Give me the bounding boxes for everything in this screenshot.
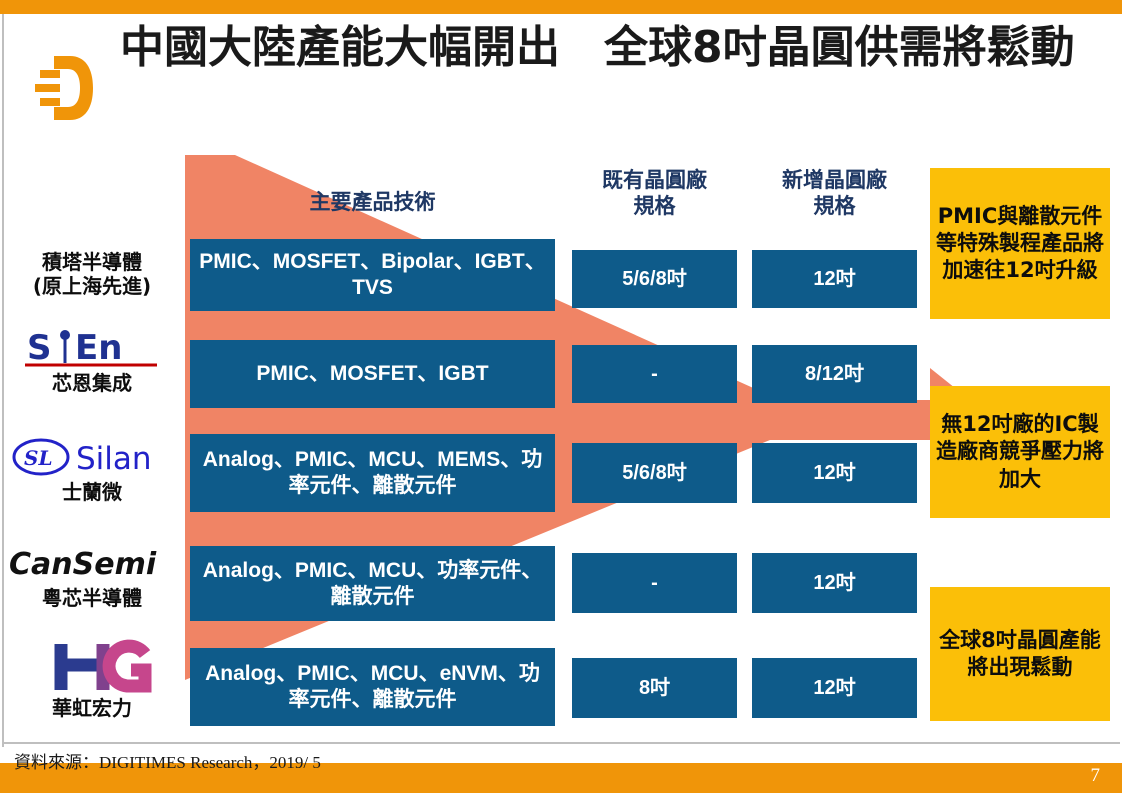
row-label-sien: S En 芯恩集成 bbox=[2, 325, 182, 395]
table-cell-tech: Analog、PMIC、MCU、MEMS、功率元件、離散元件 bbox=[190, 434, 555, 512]
table-cell-new-fab: 12吋 bbox=[752, 553, 917, 613]
svg-text:Silan: Silan bbox=[76, 441, 152, 477]
table-cell-new-fab: 12吋 bbox=[752, 658, 917, 718]
company-name-line1: 粵芯半導體 bbox=[2, 586, 182, 610]
company-name-line1: 華虹宏力 bbox=[2, 696, 182, 720]
footer-divider bbox=[2, 742, 1120, 744]
svg-text:CanSemi: CanSemi bbox=[9, 547, 157, 582]
table-cell-tech: PMIC、MOSFET、IGBT bbox=[190, 340, 555, 408]
column-header-existing-fab: 既有晶圓廠 規格 bbox=[572, 168, 737, 219]
source-note: 資料來源：DIGITIMES Research，2019/ 5 bbox=[14, 748, 321, 773]
table-cell-existing-fab: - bbox=[572, 553, 737, 613]
column-header-new-fab-line1: 新增晶圓廠 bbox=[752, 168, 917, 194]
table-cell-tech: PMIC、MOSFET、Bipolar、IGBT、TVS bbox=[190, 239, 555, 311]
row-label-cansemi: CanSemi 粵芯半導體 bbox=[2, 540, 182, 610]
company-name-line1: 士蘭微 bbox=[2, 480, 182, 504]
svg-text:S: S bbox=[27, 328, 52, 368]
table-cell-tech: Analog、PMIC、MCU、eNVM、功率元件、離散元件 bbox=[190, 648, 555, 726]
table-cell-existing-fab: 5/6/8吋 bbox=[572, 443, 737, 503]
column-header-new-fab-line2: 規格 bbox=[752, 194, 917, 220]
company-name-line2: (原上海先進) bbox=[2, 274, 182, 298]
table-cell-existing-fab: 5/6/8吋 bbox=[572, 250, 737, 308]
company-name-line1: 積塔半導體 bbox=[2, 250, 182, 274]
row-label-jita: 積塔半導體 (原上海先進) bbox=[2, 250, 182, 298]
page-title: 中國大陸產能大幅開出 全球8吋晶圓供需將鬆動 bbox=[120, 22, 1115, 74]
column-header-existing-fab-line2: 規格 bbox=[572, 194, 737, 220]
hg-logo-icon bbox=[2, 638, 182, 696]
top-accent-bar bbox=[0, 0, 1122, 14]
column-header-existing-fab-line1: 既有晶圓廠 bbox=[572, 168, 737, 194]
table-cell-new-fab: 8/12吋 bbox=[752, 345, 917, 403]
cansemi-logo-icon: CanSemi bbox=[2, 540, 182, 586]
table-cell-existing-fab: 8吋 bbox=[572, 658, 737, 718]
slide-canvas: 中國大陸產能大幅開出 全球8吋晶圓供需將鬆動 主要產品技術 既有晶圓廠 規格 新… bbox=[0, 0, 1122, 793]
silan-logo-icon: SL Silan bbox=[2, 434, 182, 480]
digitimes-d-logo-icon bbox=[34, 52, 96, 124]
sien-logo-icon: S En bbox=[2, 325, 182, 371]
table-cell-new-fab: 12吋 bbox=[752, 443, 917, 503]
column-header-new-fab: 新增晶圓廠 規格 bbox=[752, 168, 917, 219]
callout-box-1: PMIC與離散元件等特殊製程產品將加速往12吋升級 bbox=[930, 168, 1110, 319]
callout-box-3: 全球8吋晶圓產能將出現鬆動 bbox=[930, 587, 1110, 721]
svg-text:SL: SL bbox=[24, 446, 53, 470]
table-cell-new-fab: 12吋 bbox=[752, 250, 917, 308]
table-cell-existing-fab: - bbox=[572, 345, 737, 403]
callout-box-2: 無12吋廠的IC製造廠商競爭壓力將加大 bbox=[930, 386, 1110, 518]
svg-text:En: En bbox=[75, 328, 122, 368]
column-header-tech: 主要產品技術 bbox=[190, 190, 555, 216]
row-label-silan: SL Silan 士蘭微 bbox=[2, 434, 182, 504]
table-cell-tech: Analog、PMIC、MCU、功率元件、離散元件 bbox=[190, 546, 555, 621]
company-name-line1: 芯恩集成 bbox=[2, 371, 182, 395]
page-number: 7 bbox=[1091, 765, 1101, 787]
row-label-hhgrace: 華虹宏力 bbox=[2, 638, 182, 720]
